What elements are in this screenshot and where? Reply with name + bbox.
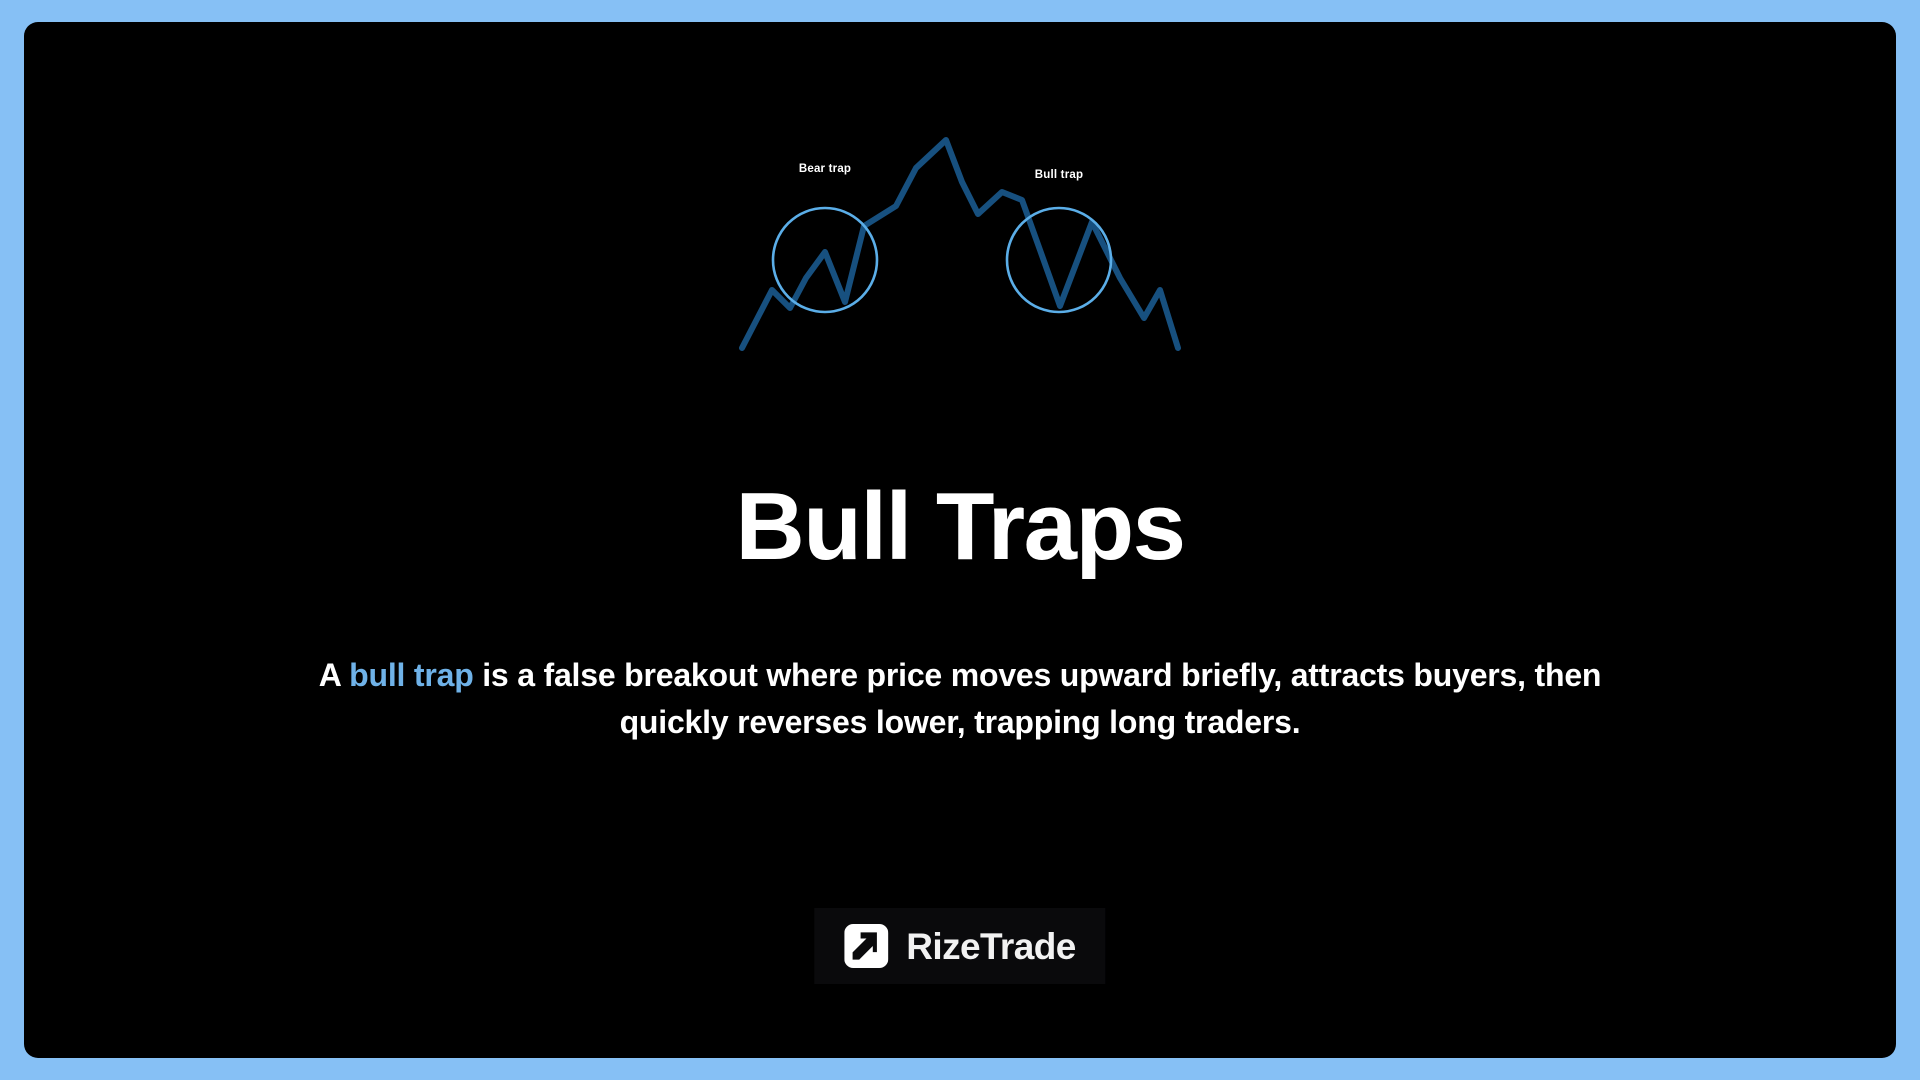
bull-trap-highlight: bull trap (349, 657, 473, 693)
brand-logo-lockup: RizeTrade (814, 908, 1105, 984)
arrow-up-right-icon (844, 924, 888, 968)
price-chart-svg: Bear trap Bull trap (700, 130, 1220, 360)
description-lead: A (319, 657, 349, 693)
slide-frame: Bear trap Bull trap Bull Traps A bull tr… (0, 0, 1920, 1080)
price-chart-illustration: Bear trap Bull trap (700, 130, 1220, 360)
slide-canvas: Bear trap Bull trap Bull Traps A bull tr… (24, 22, 1896, 1058)
bull-trap-label: Bull trap (1035, 169, 1083, 181)
description-rest: is a false breakout where price moves up… (474, 657, 1602, 740)
bear-trap-label: Bear trap (799, 163, 851, 175)
description-text: A bull trap is a false breakout where pr… (295, 652, 1625, 747)
brand-wordmark: RizeTrade (906, 928, 1075, 965)
page-title: Bull Traps (24, 477, 1896, 578)
